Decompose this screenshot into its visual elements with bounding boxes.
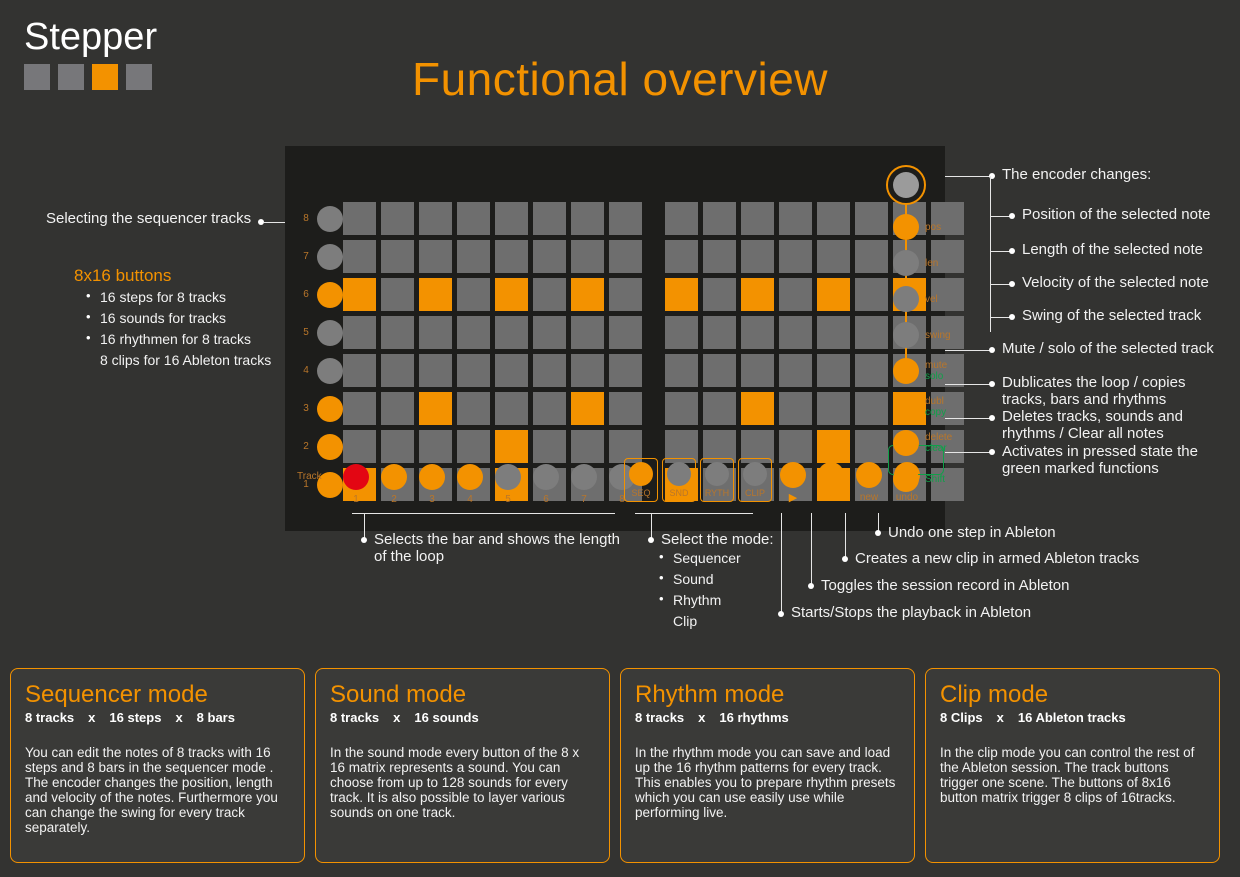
matrix-row [343, 316, 969, 349]
matrix-cell[interactable] [495, 240, 528, 273]
bc-text-mode-header: Select the mode: [661, 531, 774, 548]
matrix-cell[interactable] [533, 240, 566, 273]
side-control-dubl[interactable]: dublcopy [893, 394, 946, 420]
bar-button-slot: 7 [565, 464, 603, 505]
mode-button-label: CLIP [739, 488, 771, 498]
matrix-cell[interactable] [855, 240, 888, 273]
list-item: Sequencer [655, 549, 741, 567]
mode-cards: Sequencer mode8 tracksx16 stepsx8 barsYo… [10, 668, 1220, 863]
track-number-label: 7 [299, 251, 313, 262]
side-control-primary-label: vel [925, 294, 938, 305]
card-subtitle-part: x [88, 710, 95, 725]
encoder-knob[interactable] [886, 165, 926, 205]
matrix-cell[interactable] [703, 392, 736, 425]
card-subtitle: 8 tracksx16 rhythms [635, 710, 900, 725]
card-subtitle-part: x [175, 710, 182, 725]
side-control-labels: swing [925, 330, 951, 341]
card-subtitle-part: 16 rhythms [719, 710, 788, 725]
matrix-cell[interactable] [703, 278, 736, 311]
side-control-led [893, 250, 919, 276]
matrix-cell[interactable] [419, 354, 452, 387]
side-control-primary-label: swing [925, 330, 951, 341]
matrix-cell[interactable] [381, 240, 414, 273]
mode-card: Sound mode8 tracksx16 soundsIn the sound… [315, 668, 610, 863]
play-button[interactable] [780, 462, 806, 488]
mode-button-snd[interactable]: SND [662, 458, 696, 502]
mode-button-label: RYTH [701, 488, 733, 498]
matrix-cell[interactable] [495, 354, 528, 387]
matrix-cell[interactable] [665, 278, 698, 311]
bar-button-slot: 6 [527, 464, 565, 505]
matrix-cell[interactable] [609, 278, 642, 311]
bar-button-label: 6 [527, 494, 565, 505]
card-subtitle-part: 16 Ableton tracks [1018, 710, 1126, 725]
mode-button-seq[interactable]: SEQ [624, 458, 658, 502]
matrix-cell[interactable] [343, 316, 376, 349]
side-control-primary-label: delete [925, 432, 952, 443]
matrix-cell[interactable] [343, 354, 376, 387]
left-info-list: 16 steps for 8 tracks 16 sounds for trac… [82, 288, 271, 372]
matrix-cell[interactable] [533, 202, 566, 235]
transport-slot: new [850, 458, 888, 504]
rc-dot-2 [1009, 248, 1015, 254]
card-subtitle-part: 8 tracks [635, 710, 684, 725]
side-control-shift[interactable]: Shift [893, 466, 945, 492]
track-number-label: 3 [299, 403, 313, 414]
side-control-labels: deleteclear [925, 432, 952, 454]
card-title: Sequencer mode [25, 681, 290, 708]
mode-card: Clip mode8 Clipsx16 Ableton tracksIn the… [925, 668, 1220, 863]
matrix-cell[interactable] [533, 392, 566, 425]
rc-text-2: Length of the selected note [1022, 241, 1203, 258]
bc-dot-record [808, 583, 814, 589]
card-body: In the clip mode you can control the res… [940, 745, 1205, 805]
card-subtitle-part: x [698, 710, 705, 725]
bar-button-slot: 5 [489, 464, 527, 505]
rc-line-8 [945, 452, 991, 453]
matrix-cell[interactable] [419, 430, 452, 463]
card-subtitle-part: x [393, 710, 400, 725]
matrix-cell[interactable] [343, 430, 376, 463]
matrix-row [343, 278, 969, 311]
matrix-cell[interactable] [741, 240, 774, 273]
side-control-shift-label: Shift [925, 474, 945, 485]
bar-button-slot: 3 [413, 464, 451, 505]
matrix-cell[interactable] [779, 240, 812, 273]
side-control-len[interactable]: len [893, 250, 938, 276]
matrix-row [343, 202, 969, 235]
bar-button-slot: 2 [375, 464, 413, 505]
matrix-cell[interactable] [855, 278, 888, 311]
matrix-cell[interactable] [817, 202, 850, 235]
matrix-cell[interactable] [381, 430, 414, 463]
matrix-cell[interactable] [571, 316, 604, 349]
record-icon: ○ [812, 492, 850, 504]
rc-vline-encoder [990, 176, 991, 332]
matrix-cell[interactable] [419, 392, 452, 425]
list-item: 16 steps for 8 tracks [82, 288, 271, 306]
transport-label: undo [888, 492, 926, 503]
matrix-cell[interactable] [703, 354, 736, 387]
matrix-cell[interactable] [703, 202, 736, 235]
matrix-cell[interactable] [741, 316, 774, 349]
matrix-cell[interactable] [533, 354, 566, 387]
bar-button-label: 5 [489, 494, 527, 505]
bar-button-7[interactable] [571, 464, 597, 490]
track-number-label: 5 [299, 327, 313, 338]
matrix-cell[interactable] [343, 202, 376, 235]
mode-button-slot: SEQ [622, 458, 660, 504]
matrix-cell[interactable] [665, 240, 698, 273]
matrix-cell[interactable] [779, 392, 812, 425]
bc-text-undo: Undo one step in Ableton [888, 524, 1056, 541]
list-item: 16 rhythmen for 8 tracks [82, 330, 271, 348]
card-subtitle-part: 8 Clips [940, 710, 983, 725]
rc-text-6: Dublicates the loop / copies tracks, bar… [1002, 374, 1185, 408]
matrix-cell[interactable] [571, 430, 604, 463]
rc-text-7: Deletes tracks, sounds and rhythms / Cle… [1002, 408, 1183, 442]
bar-button-slot: 1 [337, 464, 375, 505]
mode-bracket-v [651, 513, 652, 539]
mode-card: Sequencer mode8 tracksx16 stepsx8 barsYo… [10, 668, 305, 863]
callout-select-tracks: Selecting the sequencer tracks [46, 210, 251, 227]
matrix-cell[interactable] [609, 354, 642, 387]
rc-dot-5 [989, 347, 995, 353]
card-subtitle: 8 tracksx16 stepsx8 bars [25, 710, 290, 725]
matrix-cell[interactable] [533, 278, 566, 311]
rc-line-7 [945, 418, 991, 419]
matrix-cell[interactable] [817, 316, 850, 349]
encoder-inner [893, 172, 919, 198]
bc-text-play: Starts/Stops the playback in Ableton [791, 604, 1031, 621]
list-item: Sound [655, 570, 741, 588]
matrix-cell[interactable] [495, 202, 528, 235]
matrix-cell[interactable] [741, 202, 774, 235]
mode-button-label: SND [663, 488, 695, 498]
track-number-label: 2 [299, 441, 313, 452]
list-item: Clip [655, 612, 741, 630]
rc-text-5: Mute / solo of the selected track [1002, 340, 1214, 357]
matrix-cell[interactable] [665, 202, 698, 235]
mode-button-led [705, 462, 729, 486]
bar-button-5[interactable] [495, 464, 521, 490]
mode-button-label: SEQ [625, 488, 657, 498]
matrix-cell[interactable] [419, 316, 452, 349]
track-select-row: 8 [299, 202, 343, 235]
track-select-button-7[interactable] [317, 244, 343, 270]
matrix-cell[interactable] [855, 202, 888, 235]
list-item: 8 clips for 16 Ableton tracks [82, 351, 271, 369]
bc-text-bar: Selects the bar and shows the length of … [374, 531, 620, 565]
matrix-cell[interactable] [495, 316, 528, 349]
bar-button-4[interactable] [457, 464, 483, 490]
matrix-row [343, 392, 969, 425]
matrix-cell[interactable] [817, 354, 850, 387]
matrix-cell[interactable] [855, 316, 888, 349]
track-select-row: 7 [299, 240, 343, 273]
bar-bracket-v [364, 513, 365, 539]
rc-dot-1 [1009, 213, 1015, 219]
card-subtitle-part: 16 sounds [414, 710, 478, 725]
rc-line-0 [945, 176, 991, 177]
matrix-cell[interactable] [703, 316, 736, 349]
matrix-cell[interactable] [609, 240, 642, 273]
rc-text-4: Swing of the selected track [1022, 307, 1201, 324]
mode-list: Sequencer Sound Rhythm Clip [655, 549, 741, 633]
transport-slot: ○ [812, 458, 850, 504]
track-select-button-3[interactable] [317, 396, 343, 422]
rc-text-3: Velocity of the selected note [1022, 274, 1209, 291]
matrix-cell[interactable] [571, 240, 604, 273]
track-select-row: 5 [299, 316, 343, 349]
side-control-led [893, 466, 919, 492]
bc-text-record: Toggles the session record in Ableton [821, 577, 1070, 594]
side-control-primary-label: len [925, 258, 938, 269]
logo-text: Stepper [24, 18, 157, 56]
card-title: Rhythm mode [635, 681, 900, 708]
matrix-cell[interactable] [381, 354, 414, 387]
bar-button-3[interactable] [419, 464, 445, 490]
matrix-cell[interactable] [457, 316, 490, 349]
side-control-led [893, 358, 919, 384]
bar-button-label: 7 [565, 494, 603, 505]
side-control-labels: vel [925, 294, 938, 305]
side-control-labels: pos [925, 222, 941, 233]
left-info-heading: 8x16 buttons [74, 266, 171, 286]
card-subtitle-part: 8 tracks [330, 710, 379, 725]
rc-line-6 [945, 384, 991, 385]
bar-button-slot: 4 [451, 464, 489, 505]
track-select-button-6[interactable] [317, 282, 343, 308]
card-body: You can edit the notes of 8 tracks with … [25, 745, 290, 835]
side-control-labels: mutesolo [925, 360, 947, 382]
matrix-cell[interactable] [571, 354, 604, 387]
matrix-cell[interactable] [343, 278, 376, 311]
matrix-cell[interactable] [609, 392, 642, 425]
matrix-cell[interactable] [419, 202, 452, 235]
card-subtitle: 8 Clipsx16 Ableton tracks [940, 710, 1205, 725]
matrix-cell[interactable] [381, 202, 414, 235]
track-select-button-8[interactable] [317, 206, 343, 232]
matrix-cell[interactable] [457, 392, 490, 425]
matrix-cell[interactable] [343, 240, 376, 273]
rc-dot-3 [1009, 281, 1015, 287]
side-control-mute[interactable]: mutesolo [893, 358, 947, 384]
card-subtitle-part: x [997, 710, 1004, 725]
matrix-cell[interactable] [855, 392, 888, 425]
new-clip-button[interactable] [856, 462, 882, 488]
side-control-labels: Shift [925, 474, 945, 485]
side-control-led [893, 394, 919, 420]
side-control-pos[interactable]: pos [893, 214, 941, 240]
matrix-cell[interactable] [665, 392, 698, 425]
matrix-cell[interactable] [457, 354, 490, 387]
matrix-cell[interactable] [381, 278, 414, 311]
mode-bracket-h [635, 513, 753, 514]
rc-text-1: Position of the selected note [1022, 206, 1210, 223]
matrix-cell[interactable] [665, 316, 698, 349]
bc-dot-play [778, 611, 784, 617]
mode-button-led [743, 462, 767, 486]
rc-dot-7 [989, 415, 995, 421]
track-number-label: 8 [299, 213, 313, 224]
list-item: Rhythm [655, 591, 741, 609]
rc-dot-4 [1009, 314, 1015, 320]
play-line [781, 513, 782, 613]
matrix-cell[interactable] [571, 278, 604, 311]
matrix-cell[interactable] [779, 278, 812, 311]
side-control-delete[interactable]: deleteclear [893, 430, 952, 456]
matrix-cell[interactable] [495, 430, 528, 463]
matrix-cell[interactable] [381, 392, 414, 425]
mode-button-led [629, 462, 653, 486]
matrix-cell[interactable] [741, 354, 774, 387]
matrix-cell[interactable] [533, 316, 566, 349]
track-number-label: 4 [299, 365, 313, 376]
side-control-led [893, 286, 919, 312]
side-control-shift-label: copy [925, 407, 946, 418]
matrix-cell[interactable] [817, 392, 850, 425]
bar-button-row[interactable]: 12345678 [337, 464, 641, 505]
matrix-cell[interactable] [855, 354, 888, 387]
page-title: Functional overview [0, 52, 1240, 106]
rc-dot-6 [989, 381, 995, 387]
side-control-labels: dublcopy [925, 396, 946, 418]
matrix-cell[interactable] [779, 354, 812, 387]
card-body: In the sound mode every button of the 8 … [330, 745, 595, 820]
bc-dot-new [842, 556, 848, 562]
matrix-cell[interactable] [495, 392, 528, 425]
matrix-cell[interactable] [571, 202, 604, 235]
side-control-led [893, 214, 919, 240]
track-select-row: 2 [299, 430, 343, 463]
mode-card: Rhythm mode8 tracksx16 rhythmsIn the rhy… [620, 668, 915, 863]
side-control-swing[interactable]: swing [893, 322, 951, 348]
side-control-primary-label: dubl [925, 396, 946, 407]
matrix-cell[interactable] [609, 316, 642, 349]
bar-bracket-h [352, 513, 615, 514]
matrix-cell[interactable] [817, 278, 850, 311]
matrix-cell[interactable] [741, 392, 774, 425]
bar-button-6[interactable] [533, 464, 559, 490]
matrix-cell[interactable] [609, 202, 642, 235]
list-item: 16 sounds for tracks [82, 309, 271, 327]
track-select-button-2[interactable] [317, 434, 343, 460]
matrix-row [343, 240, 969, 273]
card-subtitle-part: 8 bars [197, 710, 235, 725]
play-icon: ▶ [774, 492, 812, 504]
bar-button-label: 3 [413, 494, 451, 505]
card-body: In the rhythm mode you can save and load… [635, 745, 900, 820]
matrix-cell[interactable] [665, 354, 698, 387]
matrix-row [343, 354, 969, 387]
track-select-button-4[interactable] [317, 358, 343, 384]
rc-dot-8 [989, 449, 995, 455]
rc-line-5 [945, 350, 991, 351]
matrix-cell[interactable] [779, 202, 812, 235]
track-select-row: 3 [299, 392, 343, 425]
bar-button-1[interactable] [343, 464, 369, 490]
mode-button-clip[interactable]: CLIP [738, 458, 772, 502]
mode-button-ryth[interactable]: RYTH [700, 458, 734, 502]
matrix-cell[interactable] [571, 392, 604, 425]
matrix-cell[interactable] [419, 278, 452, 311]
side-control-vel[interactable]: vel [893, 286, 938, 312]
matrix-cell[interactable] [343, 392, 376, 425]
matrix-cell[interactable] [419, 240, 452, 273]
matrix-cell[interactable] [457, 240, 490, 273]
mode-transport-row[interactable]: SEQSNDRYTHCLIP▶○newundo [622, 458, 926, 504]
bar-button-label: 1 [337, 494, 375, 505]
mode-button-slot: SND [660, 458, 698, 504]
rc-text-0: The encoder changes: [1002, 166, 1151, 183]
matrix-cell[interactable] [741, 278, 774, 311]
side-control-led [893, 430, 919, 456]
poster-root: Stepper Functional overview Selecting th… [0, 0, 1240, 877]
side-control-primary-label: mute [925, 360, 947, 371]
bc-dot-bar [361, 537, 367, 543]
transport-slot: ▶ [774, 458, 812, 504]
rc-text-8: Activates in pressed state the green mar… [1002, 443, 1198, 477]
card-subtitle-part: 16 steps [109, 710, 161, 725]
bar-button-label: 2 [375, 494, 413, 505]
bc-dot-undo [875, 530, 881, 536]
record-line [811, 513, 812, 585]
matrix-cell[interactable] [457, 278, 490, 311]
matrix-cell[interactable] [457, 202, 490, 235]
mode-button-led [667, 462, 691, 486]
new-line [845, 513, 846, 557]
matrix-cell[interactable] [381, 316, 414, 349]
device-panel: 87654321 Track Bar 12345678 SEQSNDRYTHCL… [285, 146, 945, 531]
matrix-cell[interactable] [533, 430, 566, 463]
side-control-led [893, 322, 919, 348]
undo-line [878, 513, 879, 531]
card-title: Sound mode [330, 681, 595, 708]
card-subtitle: 8 tracksx16 sounds [330, 710, 595, 725]
bc-text-new: Creates a new clip in armed Ableton trac… [855, 550, 1139, 567]
bar-button-2[interactable] [381, 464, 407, 490]
side-control-shift-label: solo [925, 371, 947, 382]
bar-button-label: 4 [451, 494, 489, 505]
track-select-row: 6 [299, 278, 343, 311]
mode-button-slot: RYTH [698, 458, 736, 504]
card-title: Clip mode [940, 681, 1205, 708]
matrix-cell[interactable] [703, 240, 736, 273]
record-button[interactable] [818, 462, 844, 488]
transport-label: new [850, 492, 888, 503]
matrix-cell[interactable] [817, 240, 850, 273]
side-control-labels: len [925, 258, 938, 269]
card-subtitle-part: 8 tracks [25, 710, 74, 725]
bc-dot-mode [648, 537, 654, 543]
side-control-primary-label: pos [925, 222, 941, 233]
track-select-button-5[interactable] [317, 320, 343, 346]
track-column-label: Track [297, 471, 322, 482]
track-select-column: 87654321 [299, 202, 343, 506]
matrix-cell[interactable] [457, 430, 490, 463]
mode-button-slot: CLIP [736, 458, 774, 504]
track-number-label: 6 [299, 289, 313, 300]
track-select-row: 4 [299, 354, 343, 387]
matrix-cell[interactable] [779, 316, 812, 349]
matrix-cell[interactable] [495, 278, 528, 311]
